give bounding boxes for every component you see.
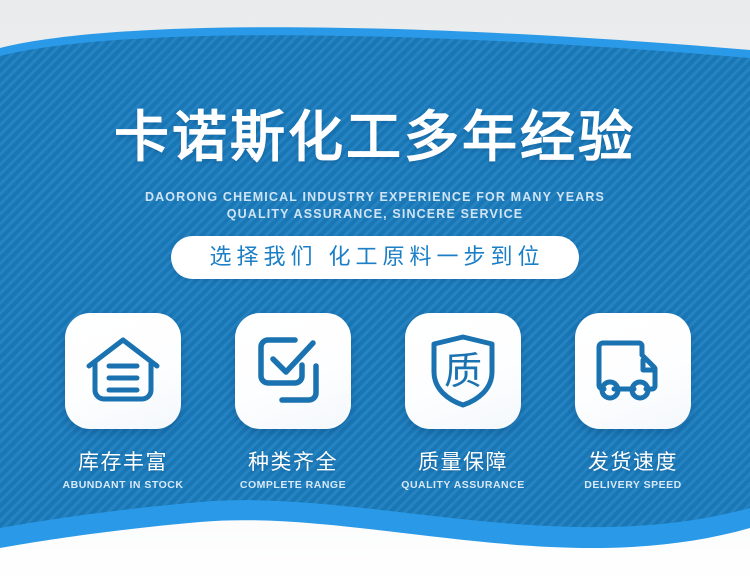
feature-card-delivery <box>575 313 691 429</box>
shield-glyph: 质 <box>444 351 482 393</box>
feature-label-cn-range: 种类齐全 <box>248 451 338 475</box>
feature-label-en-stock: ABUNDANT IN STOCK <box>63 479 184 492</box>
feature-label-cn-stock: 库存丰富 <box>78 451 168 475</box>
feature-list: 库存丰富 ABUNDANT IN STOCK 种类齐全 COMPLETE RAN… <box>53 313 703 492</box>
feature-label-cn-delivery: 发货速度 <box>588 451 678 475</box>
feature-item-range: 种类齐全 COMPLETE RANGE <box>223 313 363 492</box>
subtitle-line-1: DAORONG CHEMICAL INDUSTRY EXPERIENCE FOR… <box>145 190 605 204</box>
shield-quality-icon: 质 <box>428 334 498 408</box>
subtitle-english: DAORONG CHEMICAL INDUSTRY EXPERIENCE FOR… <box>0 189 750 223</box>
feature-item-delivery: 发货速度 DELIVERY SPEED <box>563 313 703 492</box>
slogan-pill-wrapper: 选择我们 化工原料一步到位 <box>0 236 750 279</box>
delivery-truck-icon <box>594 338 672 404</box>
feature-item-quality: 质 质量保障 QUALITY ASSURANCE <box>393 313 533 492</box>
banner-content: 卡诺斯化工多年经验 DAORONG CHEMICAL INDUSTRY EXPE… <box>0 0 750 585</box>
feature-label-en-delivery: DELIVERY SPEED <box>584 479 681 492</box>
feature-card-quality: 质 <box>405 313 521 429</box>
checkbox-check-icon <box>256 335 330 407</box>
subtitle-line-2: QUALITY ASSURANCE, SINCERE SERVICE <box>0 206 750 223</box>
feature-label-cn-quality: 质量保障 <box>418 451 508 475</box>
feature-label-en-range: COMPLETE RANGE <box>240 479 346 492</box>
promo-banner: 卡诺斯化工多年经验 DAORONG CHEMICAL INDUSTRY EXPE… <box>0 0 750 585</box>
slogan-pill: 选择我们 化工原料一步到位 <box>171 236 578 279</box>
feature-item-stock: 库存丰富 ABUNDANT IN STOCK <box>53 313 193 492</box>
feature-card-stock <box>65 313 181 429</box>
feature-label-en-quality: QUALITY ASSURANCE <box>401 479 524 492</box>
feature-card-range <box>235 313 351 429</box>
page-title: 卡诺斯化工多年经验 <box>0 104 750 170</box>
warehouse-icon <box>86 336 160 406</box>
